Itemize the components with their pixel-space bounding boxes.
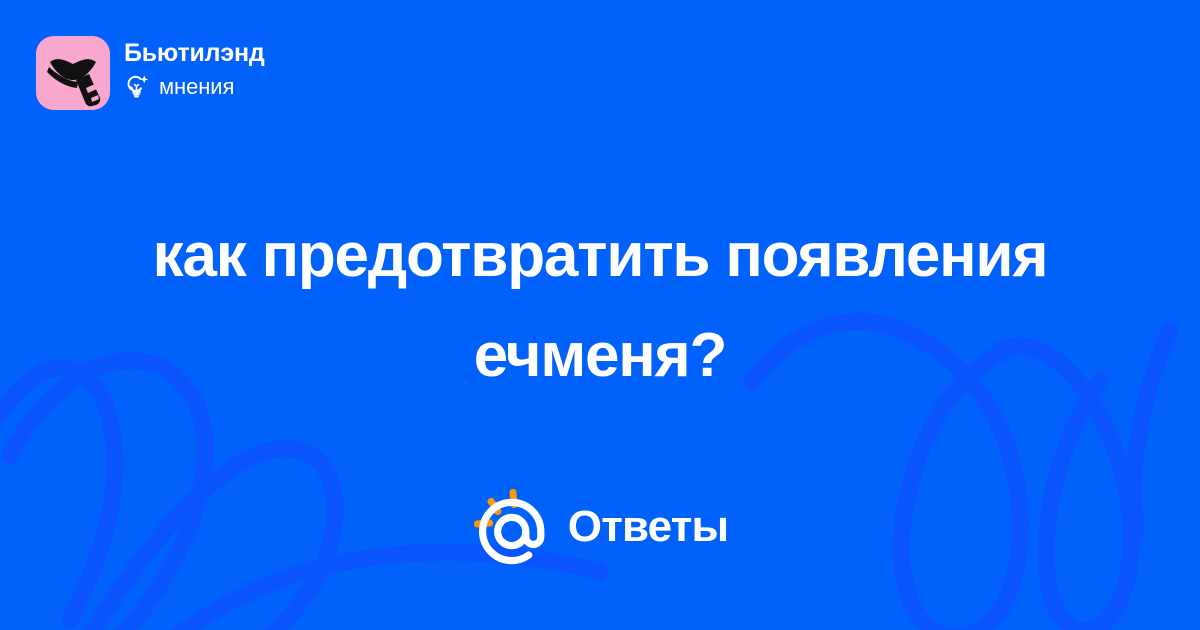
brand-subtitle-label: мнения (159, 74, 234, 100)
otvety-logo-lockup[interactable]: Ответы (0, 487, 1200, 567)
lightbulb-sparkle-icon (124, 74, 150, 100)
lips-lipstick-icon (36, 36, 110, 110)
brand-subtitle: мнения (124, 74, 265, 100)
brand-name: Бьютилэнд (124, 38, 265, 68)
otvety-label: Ответы (568, 502, 728, 552)
question-title-container: как предотвратить появления ечменя? (0, 206, 1200, 406)
brand-text-block: Бьютилэнд мнения (124, 36, 265, 100)
question-title: как предотвратить появления ечменя? (150, 206, 1050, 406)
share-card: Бьютилэнд мнения как предотвратить появл… (0, 0, 1200, 630)
at-sign-rays-icon (472, 489, 554, 567)
brand-header[interactable]: Бьютилэнд мнения (36, 36, 265, 110)
